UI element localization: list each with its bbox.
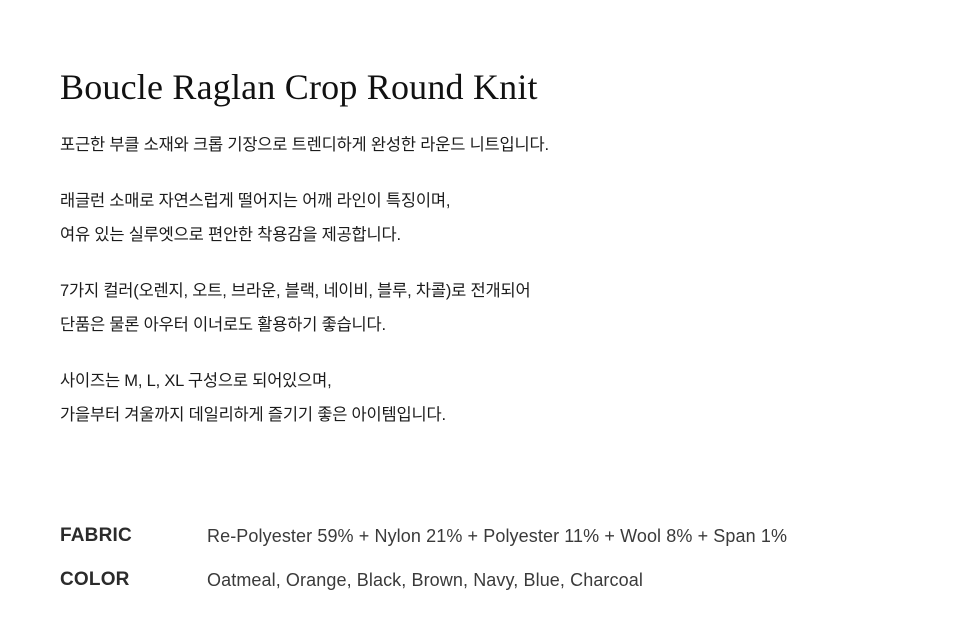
table-row: FABRIC Re-Polyester 59% + Nylon 21% + Po…: [60, 514, 880, 558]
page-title: Boucle Raglan Crop Round Knit: [60, 66, 538, 108]
description-line: 가을부터 겨울까지 데일리하게 즐기기 좋은 아이템입니다.: [60, 398, 880, 432]
spec-value-fabric: Re-Polyester 59% + Nylon 21% + Polyester…: [207, 514, 880, 558]
description-line: 여유 있는 실루엣으로 편안한 착용감을 제공합니다.: [60, 218, 880, 252]
description-line: 사이즈는 M, L, XL 구성으로 되어있으며,: [60, 364, 880, 398]
product-description: 포근한 부클 소재와 크롭 기장으로 트렌디하게 완성한 라운드 니트입니다. …: [60, 128, 880, 432]
description-paragraph: 포근한 부클 소재와 크롭 기장으로 트렌디하게 완성한 라운드 니트입니다.: [60, 128, 880, 162]
table-row: COLOR Oatmeal, Orange, Black, Brown, Nav…: [60, 558, 880, 602]
spec-value-color: Oatmeal, Orange, Black, Brown, Navy, Blu…: [207, 558, 880, 602]
description-line: 7가지 컬러(오렌지, 오트, 브라운, 블랙, 네이비, 블루, 차콜)로 전…: [60, 274, 880, 308]
product-spec-table: FABRIC Re-Polyester 59% + Nylon 21% + Po…: [60, 514, 880, 602]
spec-label-fabric: FABRIC: [60, 514, 207, 558]
description-line: 포근한 부클 소재와 크롭 기장으로 트렌디하게 완성한 라운드 니트입니다.: [60, 128, 880, 162]
description-line: 래글런 소매로 자연스럽게 떨어지는 어깨 라인이 특징이며,: [60, 184, 880, 218]
description-paragraph: 래글런 소매로 자연스럽게 떨어지는 어깨 라인이 특징이며, 여유 있는 실루…: [60, 184, 880, 252]
product-detail-page: Boucle Raglan Crop Round Knit 포근한 부클 소재와…: [0, 0, 960, 626]
spec-label-color: COLOR: [60, 558, 207, 602]
description-paragraph: 사이즈는 M, L, XL 구성으로 되어있으며, 가을부터 겨울까지 데일리하…: [60, 364, 880, 432]
description-paragraph: 7가지 컬러(오렌지, 오트, 브라운, 블랙, 네이비, 블루, 차콜)로 전…: [60, 274, 880, 342]
description-line: 단품은 물론 아우터 이너로도 활용하기 좋습니다.: [60, 308, 880, 342]
